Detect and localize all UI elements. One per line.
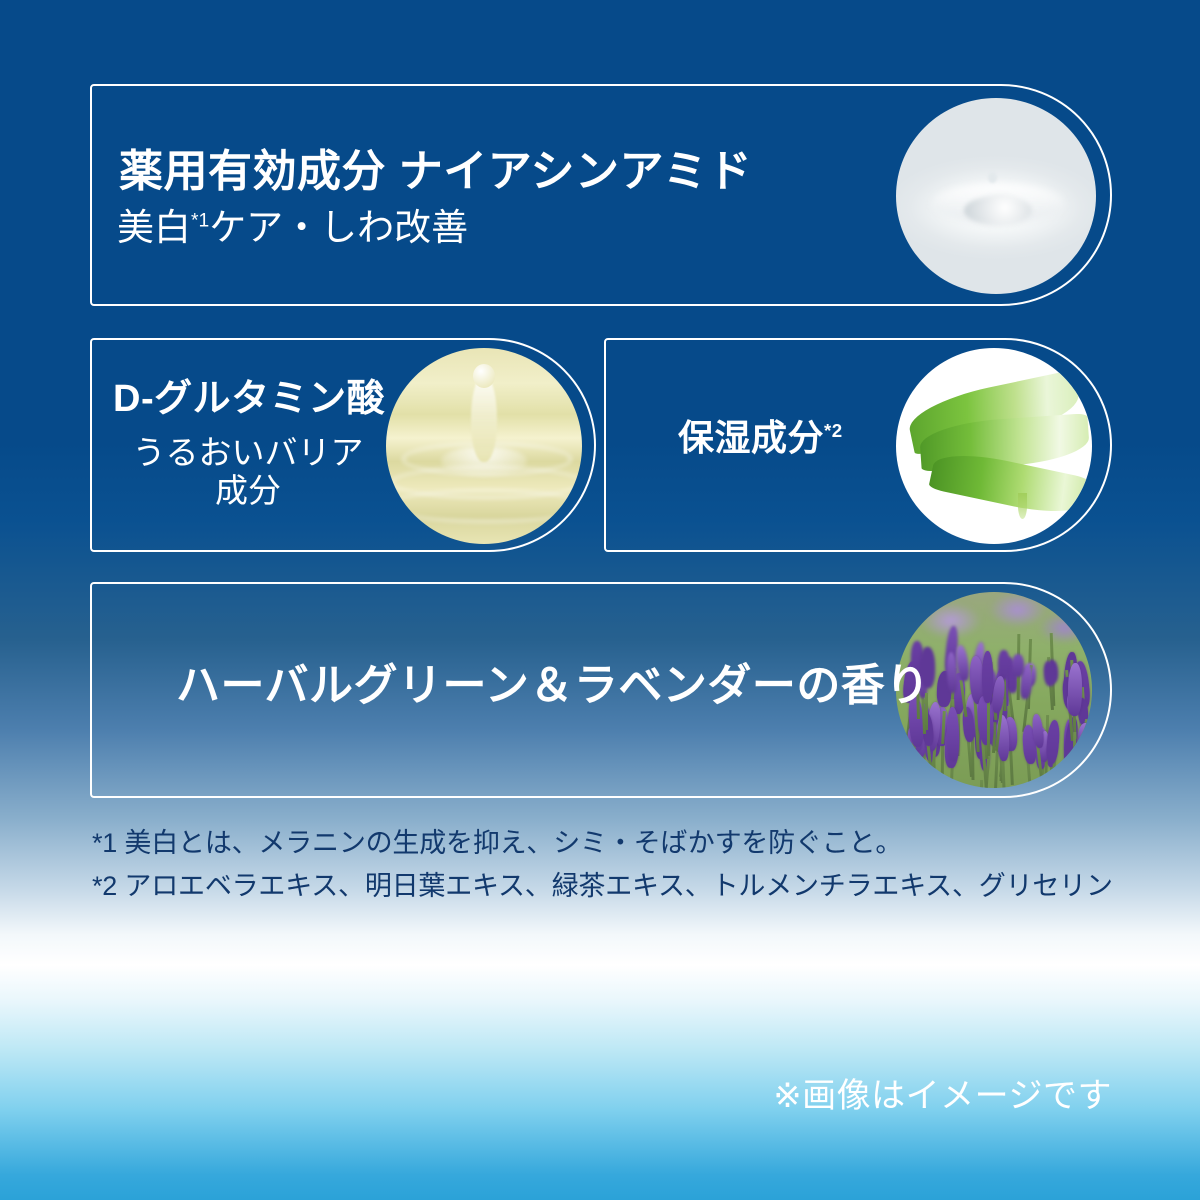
card-niacinamide-subtitle-rest: ケア・しわ改善 [209,207,468,248]
lavender-flower-head [1077,722,1092,751]
card-niacinamide-title: 薬用有効成分 ナイアシンアミド [119,148,752,196]
footnote-1: *1 美白とは、メラニンの生成を抑え、シミ・そばかすを防ぐこと。 [92,822,1152,865]
lavender-flower-head [982,651,993,703]
card-moisturizing-title-text: 保湿成分 [678,417,824,458]
drop-column [471,375,497,461]
yellow-water-drop-image [386,348,582,544]
promo-graphic: 薬用有効成分 ナイアシンアミド 美白*1ケア・しわ改善 D-グルタミン酸 うるお… [0,0,1200,1200]
card-glutamic-acid-subtitle: うるおいバリア 成分 [113,434,383,510]
card-glutamic-acid-title: D-グルタミン酸 [113,379,385,421]
footnote-marker-2: *2 [824,420,843,441]
aloe-vera-image [896,348,1092,544]
card-niacinamide-subtitle-main: 美白 [117,207,191,248]
card-moisturizing-title: 保湿成分*2 [678,418,843,458]
image-disclaimer: ※画像はイメージです [773,1068,1112,1117]
cream-swirl-image [896,98,1096,294]
footnotes: *1 美白とは、メラニンの生成を抑え、シミ・そばかすを防ぐこと。 *2 アロエベ… [92,822,1152,907]
card-glutamic-acid-subtitle-line2: 成分 [113,472,383,510]
card-glutamic-acid-subtitle-line1: うるおいバリア [133,434,364,471]
footnote-marker-1: *1 [191,211,209,232]
footnote-2: *2 アロエベラエキス、明日葉エキス、緑茶エキス、トルメンチラエキス、グリセリン [92,865,1152,908]
drop-ripple-3 [386,489,582,522]
cream-peak [988,172,997,183]
card-niacinamide-subtitle: 美白*1ケア・しわ改善 [117,207,468,250]
aloe-gel-drip [1018,493,1027,519]
card-fragrance-title: ハーバルグリーン＆ラベンダーの香り [176,662,930,710]
lavender-flower-head [1068,663,1082,716]
lavender-stem [980,780,983,788]
drop-bead [473,364,495,388]
